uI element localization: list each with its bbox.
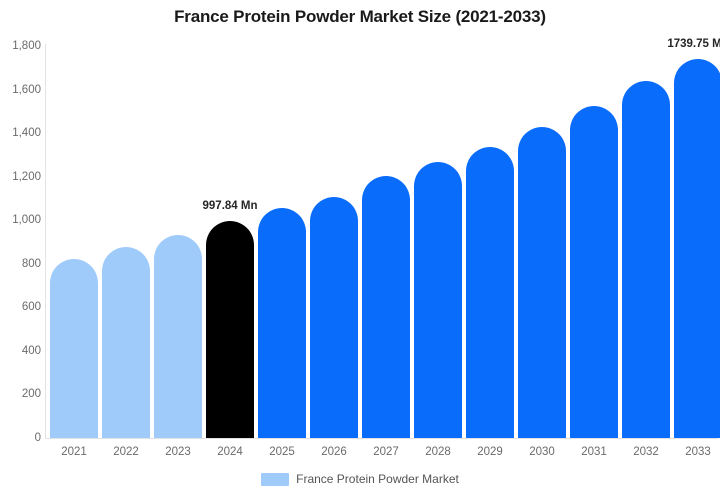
bar-2024[interactable] [206,221,254,438]
y-axis-tick-label: 600 [1,301,41,313]
chart-legend: France Protein Powder Market [0,472,720,486]
x-axis-tick-label: 2024 [206,446,254,458]
bar-value-label: 997.84 Mn [203,200,258,212]
x-axis-tick-label: 2023 [154,446,202,458]
y-axis-tick-label: 400 [1,345,41,357]
x-axis-tick-label: 2027 [362,446,410,458]
bar-2030[interactable] [518,127,566,438]
y-axis-tick-label: 1,400 [1,127,41,139]
x-axis-tick-label: 2025 [258,446,306,458]
y-axis-tick-label: 800 [1,258,41,270]
bar-2026[interactable] [310,197,358,438]
bar-column[interactable] [674,0,720,438]
bar-2031[interactable] [570,106,618,438]
legend-swatch [261,473,289,486]
y-axis-tick-label: 1,600 [1,84,41,96]
chart-container: France Protein Powder Market Size (2021-… [0,0,720,500]
x-axis-tick-label: 2032 [622,446,670,458]
bar-column[interactable] [570,0,618,438]
bar-2021[interactable] [50,259,98,438]
bar-column[interactable] [310,0,358,438]
bar-column[interactable] [362,0,410,438]
x-axis-tick-label: 2021 [50,446,98,458]
bar-column[interactable] [206,0,254,438]
x-axis-tick-label: 2028 [414,446,462,458]
bar-column[interactable] [50,0,98,438]
bar-column[interactable] [258,0,306,438]
bar-2025[interactable] [258,208,306,438]
x-axis-tick-label: 2029 [466,446,514,458]
y-axis-tick-label: 1,000 [1,214,41,226]
bar-column[interactable] [518,0,566,438]
legend-label: France Protein Powder Market [296,472,459,486]
y-axis-tick-label: 1,200 [1,171,41,183]
bar-column[interactable] [414,0,462,438]
x-axis-tick-label: 2022 [102,446,150,458]
bar-column[interactable] [622,0,670,438]
bar-2032[interactable] [622,81,670,438]
y-axis-tick-label: 1,800 [1,40,41,52]
bar-column[interactable] [102,0,150,438]
x-axis-tick-label: 2031 [570,446,618,458]
bar-2033[interactable] [674,59,720,438]
bar-value-label: 1739.75 Mn [667,38,720,50]
y-axis-tick-label: 200 [1,388,41,400]
bar-2029[interactable] [466,147,514,438]
y-axis-tick-label: 0 [1,432,41,444]
bar-2027[interactable] [362,176,410,438]
bar-column[interactable] [154,0,202,438]
x-axis-tick-label: 2030 [518,446,566,458]
bar-column[interactable] [466,0,514,438]
bar-2023[interactable] [154,235,202,438]
x-axis-tick-label: 2033 [674,446,720,458]
bar-2028[interactable] [414,162,462,438]
bar-2022[interactable] [102,247,150,438]
x-axis-line [45,438,718,439]
x-axis-tick-label: 2026 [310,446,358,458]
y-axis-tick-labels: 02004006008001,0001,2001,4001,6001,800 [0,0,41,500]
